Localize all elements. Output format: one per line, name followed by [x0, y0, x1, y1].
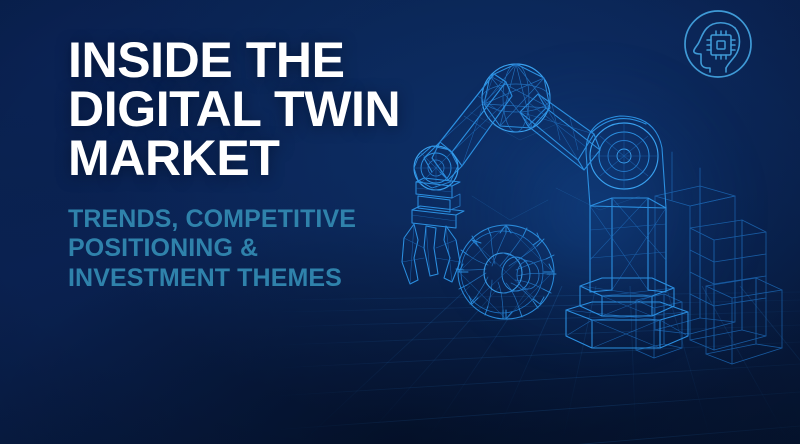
headline-line-1: INSIDE THE: [68, 36, 428, 85]
turbine-impeller-wireframe: [456, 225, 556, 319]
page-title: INSIDE THE DIGITAL TWIN MARKET: [68, 36, 428, 183]
icon-outer-circle: [685, 11, 751, 77]
subhead-line-1: TRENDS, COMPETITIVE: [68, 205, 428, 234]
subhead-line-2: POSITIONING &: [68, 234, 428, 263]
subhead-line-3: INVESTMENT THEMES: [68, 264, 428, 293]
headline-line-2: DIGITAL TWIN: [68, 85, 428, 134]
chip-body: [711, 35, 731, 55]
shoulder-joint-housing: [586, 116, 666, 292]
ai-head-chip-icon: [680, 6, 756, 82]
robotic-arm-upper-link: [520, 94, 600, 170]
chip-core: [717, 41, 725, 49]
banner-text-block: INSIDE THE DIGITAL TWIN MARKET TRENDS, C…: [68, 36, 428, 293]
page-subtitle: TRENDS, COMPETITIVE POSITIONING & INVEST…: [68, 205, 428, 293]
robot-base-pedestal: [566, 278, 688, 348]
factory-block-structures: [636, 152, 782, 364]
headline-line-3: MARKET: [68, 134, 428, 183]
head-back-path: [726, 28, 740, 68]
digital-twin-report-banner: INSIDE THE DIGITAL TWIN MARKET TRENDS, C…: [0, 0, 800, 444]
